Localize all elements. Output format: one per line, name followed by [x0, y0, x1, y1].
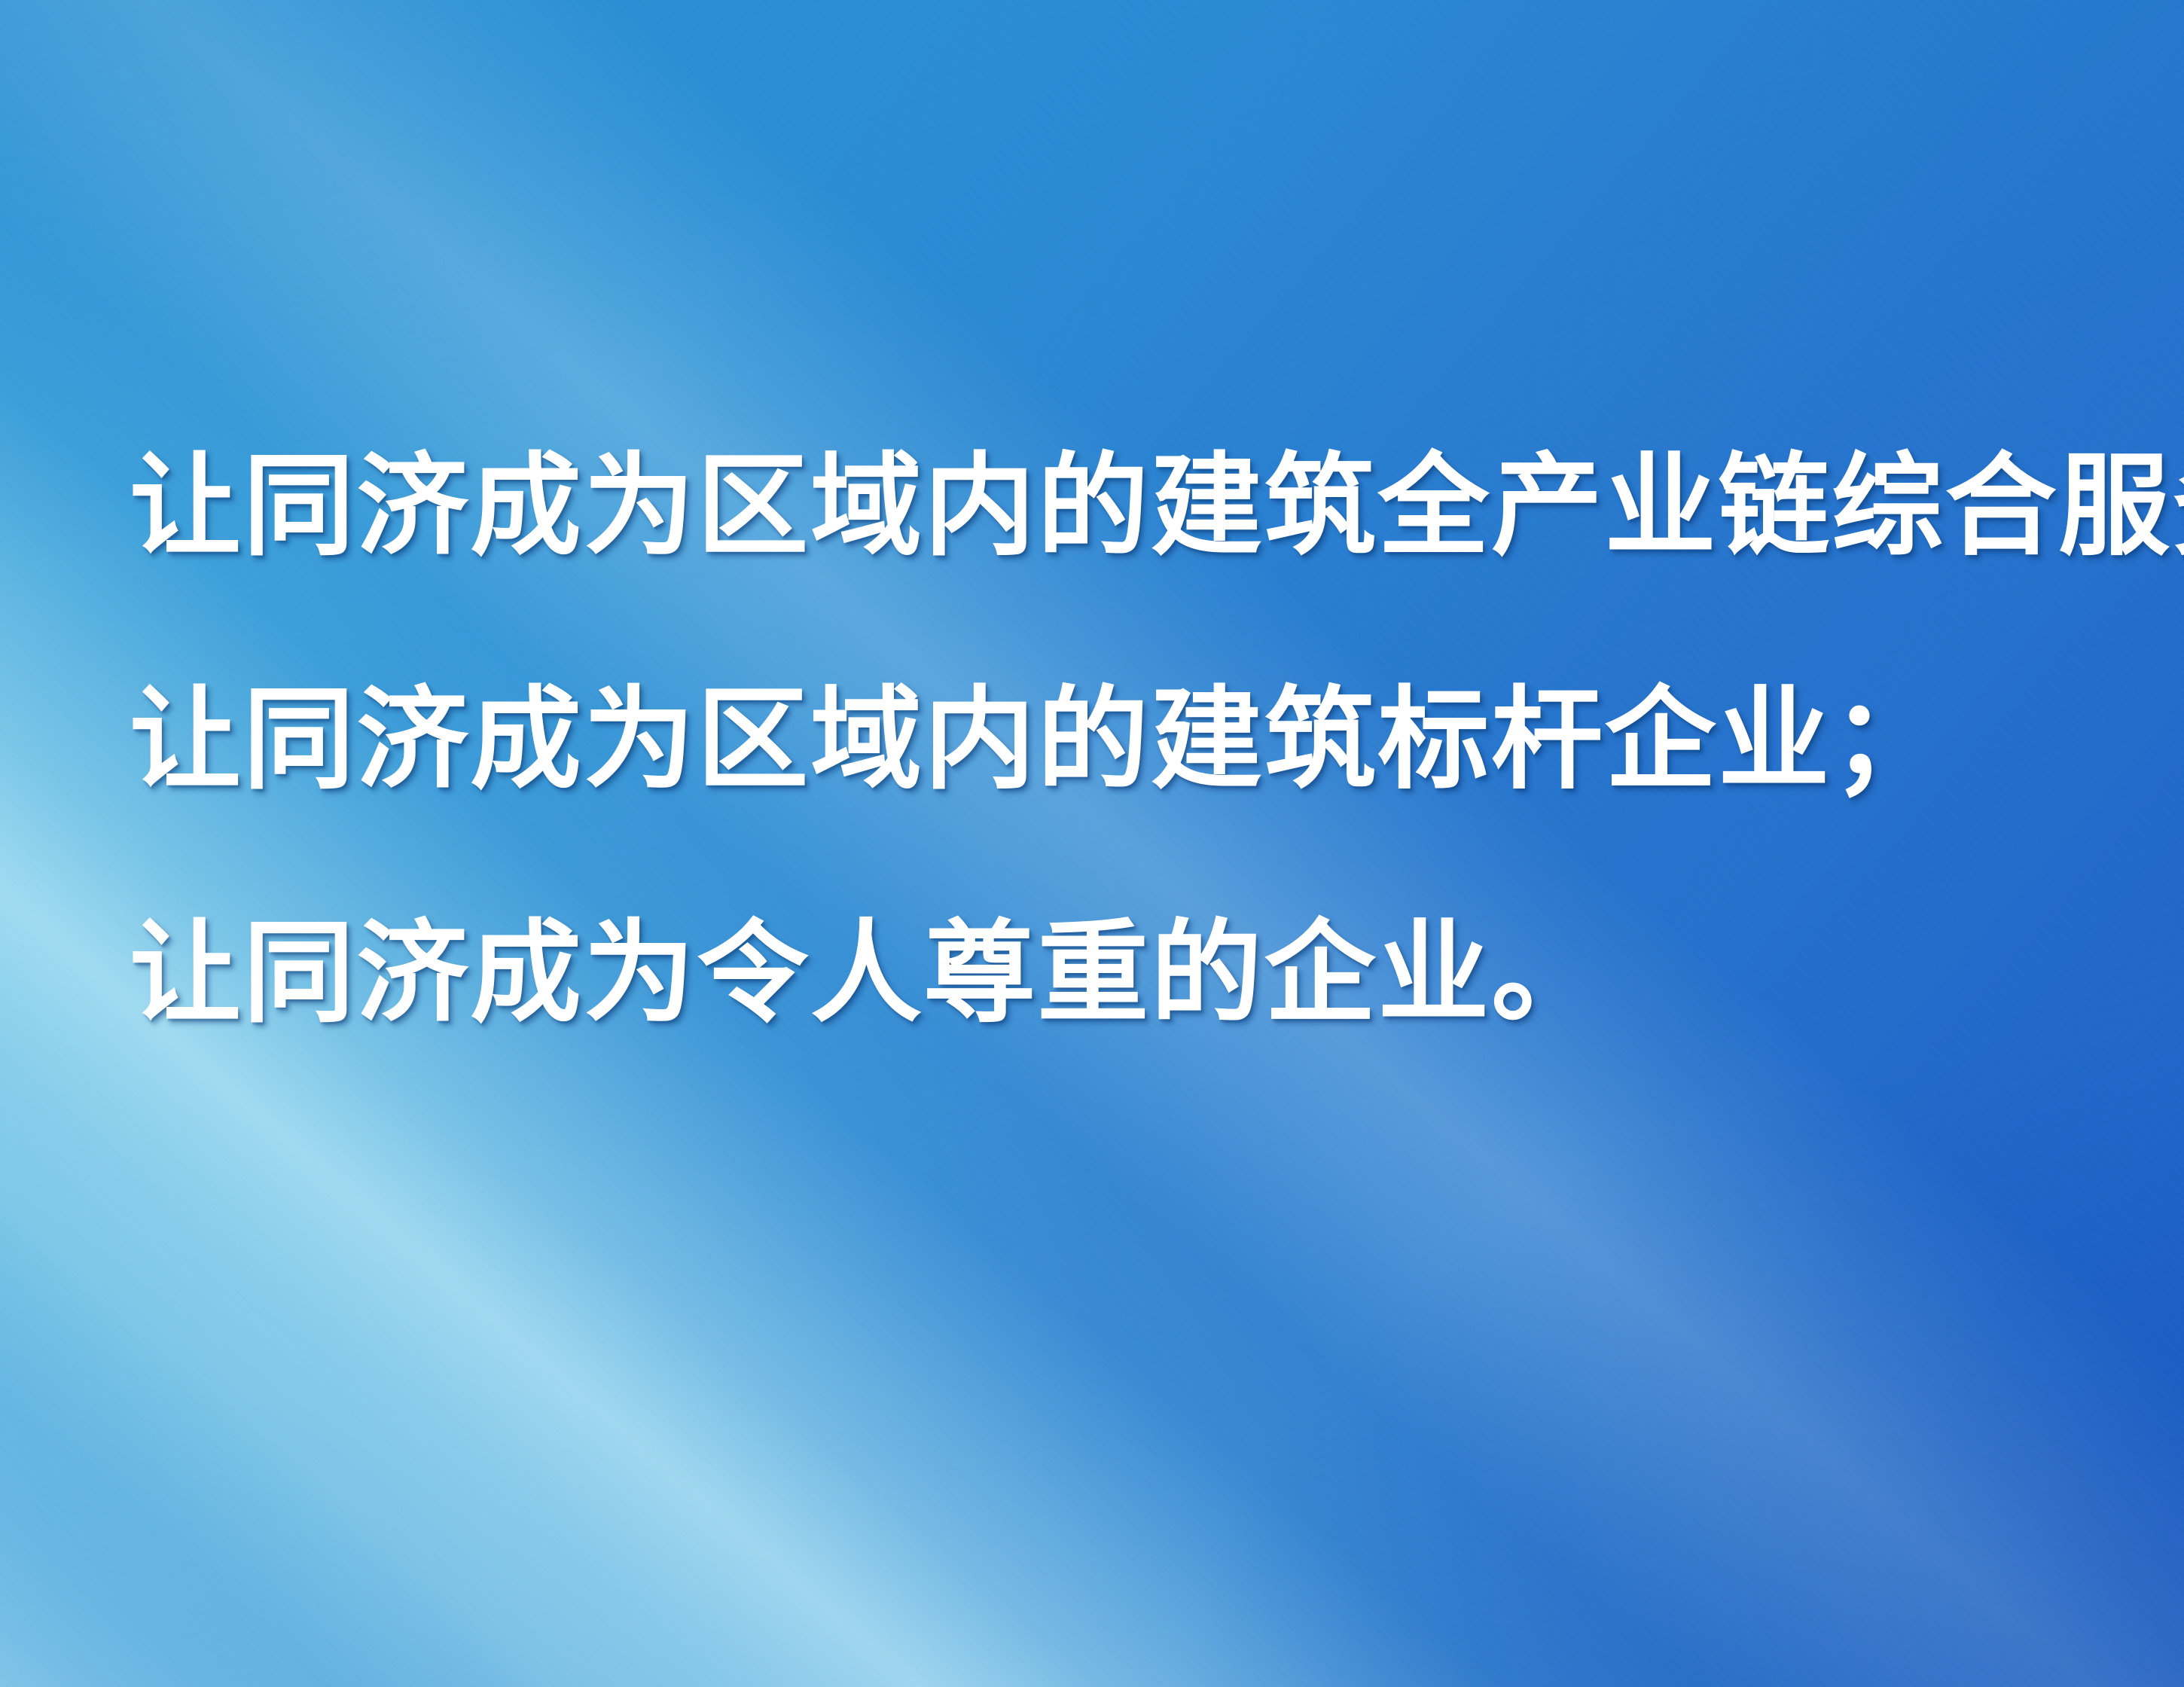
slide-text-block: 让同济成为区域内的建筑全产业链综合服务商； 让同济成为区域内的建筑标杆企业； 让…	[130, 452, 2088, 1030]
slide-text-line-2: 让同济成为区域内的建筑标杆企业；	[130, 685, 2088, 797]
slide-text-line-3: 让同济成为令人尊重的企业。	[130, 919, 2088, 1030]
slide-canvas: 让同济成为区域内的建筑全产业链综合服务商； 让同济成为区域内的建筑标杆企业； 让…	[0, 0, 2184, 1687]
slide-text-line-1: 让同济成为区域内的建筑全产业链综合服务商；	[130, 452, 2088, 563]
